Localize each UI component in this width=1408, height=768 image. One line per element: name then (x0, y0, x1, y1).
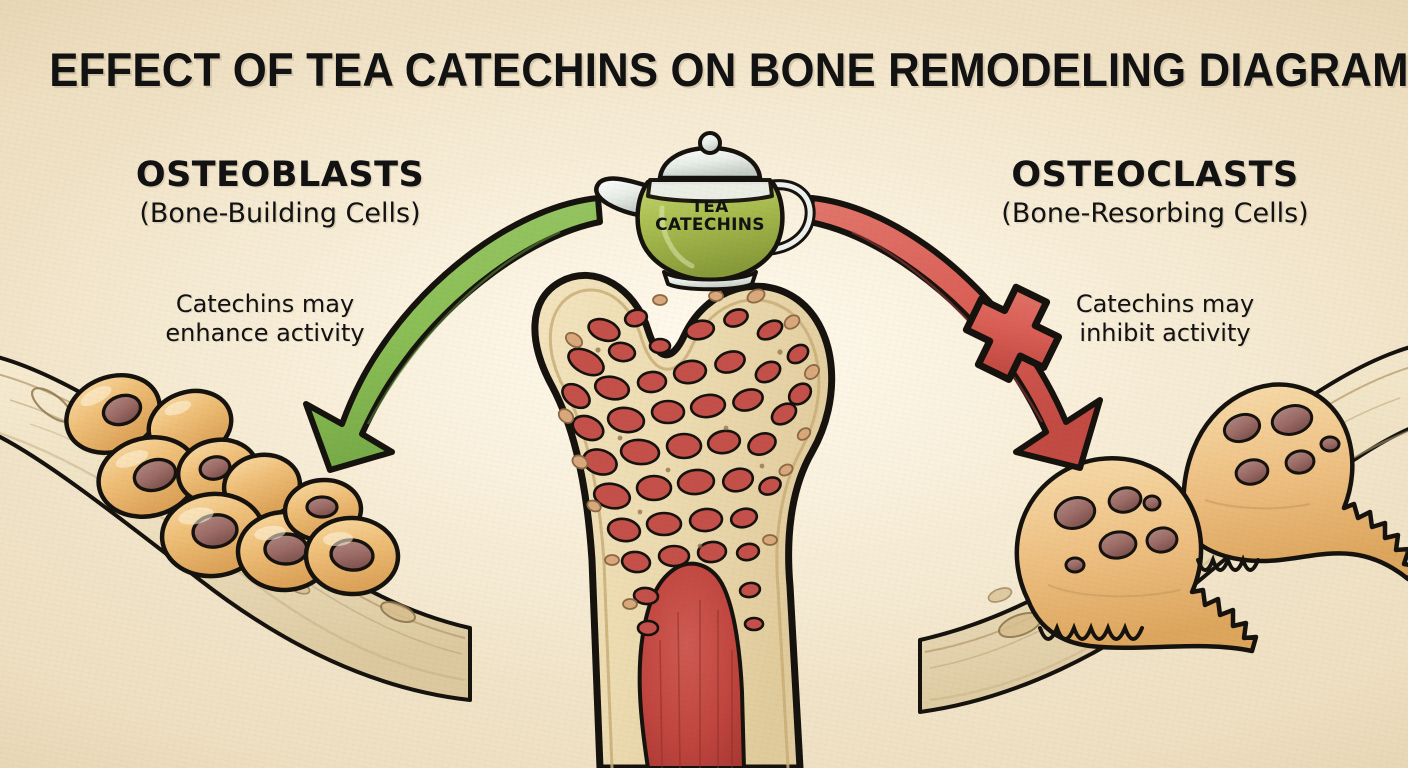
osteoblast-heading: OSTEOBLASTS (90, 155, 470, 195)
osteoblast-note: Catechins may enhance activity (135, 290, 395, 349)
diagram-canvas: EFFECT OF TEA CATECHINS ON BONE REMODELI… (0, 0, 1408, 768)
osteoclast-note: Catechins may inhibit activity (1040, 290, 1290, 349)
page-title: EFFECT OF TEA CATECHINS ON BONE REMODELI… (49, 42, 1358, 97)
osteoblast-cell-group (55, 362, 400, 596)
osteoblast-subheading: (Bone-Building Cells) (90, 198, 470, 229)
osteoblast-cell (305, 516, 400, 595)
teapot-label: TEA CATECHINS (636, 198, 784, 235)
illustration-layer (0, 0, 1408, 768)
femur-bone (535, 275, 832, 768)
osteoclast-subheading: (Bone-Resorbing Cells) (965, 198, 1345, 229)
osteoclast-heading: OSTEOCLASTS (965, 155, 1345, 195)
